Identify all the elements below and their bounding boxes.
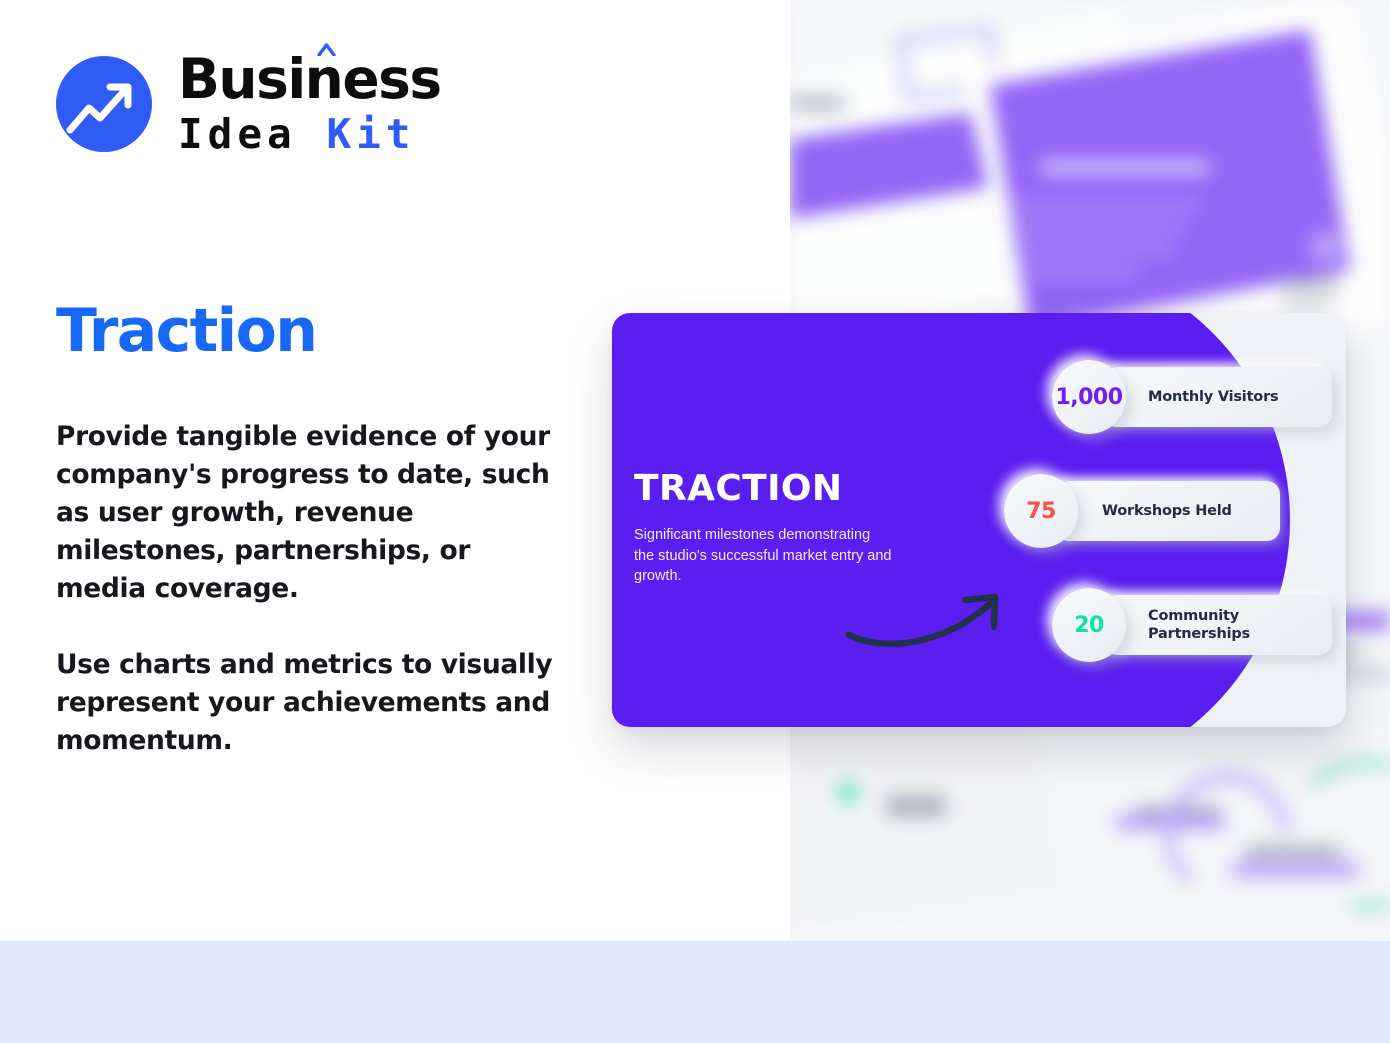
circumflex-accent-icon xyxy=(317,43,336,56)
description-paragraph-1: Provide tangible evidence of your compan… xyxy=(56,418,566,608)
brand-name-line-2: Idea Kit xyxy=(178,114,441,155)
curved-up-right-arrow-icon xyxy=(844,588,1009,650)
brand-name-text: Business xyxy=(178,47,441,111)
metric-row-workshops-held[interactable]: 75 Workshops Held xyxy=(1052,475,1332,547)
description-copy: Provide tangible evidence of your compan… xyxy=(56,418,566,760)
brand-wordmark: Business Idea Kit xyxy=(178,52,441,155)
metric-value: 20 xyxy=(1074,613,1104,638)
metric-row-community-partnerships[interactable]: 20 Community Partnerships xyxy=(1052,589,1332,661)
metric-label: Community Partnerships xyxy=(1148,607,1298,643)
slide-subtitle: Significant milestones demonstrating the… xyxy=(634,525,894,587)
metric-value-bubble: 1,000 xyxy=(1052,360,1126,434)
metrics-list: 1,000 Monthly Visitors 75 Workshops Held… xyxy=(1052,361,1332,661)
brand-kit-text: Kit xyxy=(326,110,415,158)
metric-label: Monthly Visitors xyxy=(1148,388,1298,406)
brand-lockup: Business Idea Kit xyxy=(56,52,441,155)
metric-label: Workshops Held xyxy=(1102,502,1252,520)
bottom-accent-strip xyxy=(0,941,1390,1043)
metric-value: 75 xyxy=(1026,499,1056,524)
description-paragraph-2: Use charts and metrics to visually repre… xyxy=(56,646,566,760)
slide-preview-page: Business Idea Kit Traction Provide tangi… xyxy=(0,0,1390,1043)
metric-value-bubble: 20 xyxy=(1052,588,1126,662)
slide-text-block: TRACTION Significant milestones demonstr… xyxy=(634,471,926,587)
metric-value: 1,000 xyxy=(1055,385,1122,410)
page-title: Traction xyxy=(56,296,316,366)
growth-arrow-circle-icon xyxy=(56,56,152,152)
brand-name-line-1: Business xyxy=(178,52,441,107)
metric-row-monthly-visitors[interactable]: 1,000 Monthly Visitors xyxy=(1052,361,1332,433)
traction-slide-card[interactable]: TRACTION Significant milestones demonstr… xyxy=(612,313,1346,727)
brand-idea-text: Idea xyxy=(178,110,297,158)
slide-title: TRACTION xyxy=(634,471,926,507)
metric-value-bubble: 75 xyxy=(1004,474,1078,548)
